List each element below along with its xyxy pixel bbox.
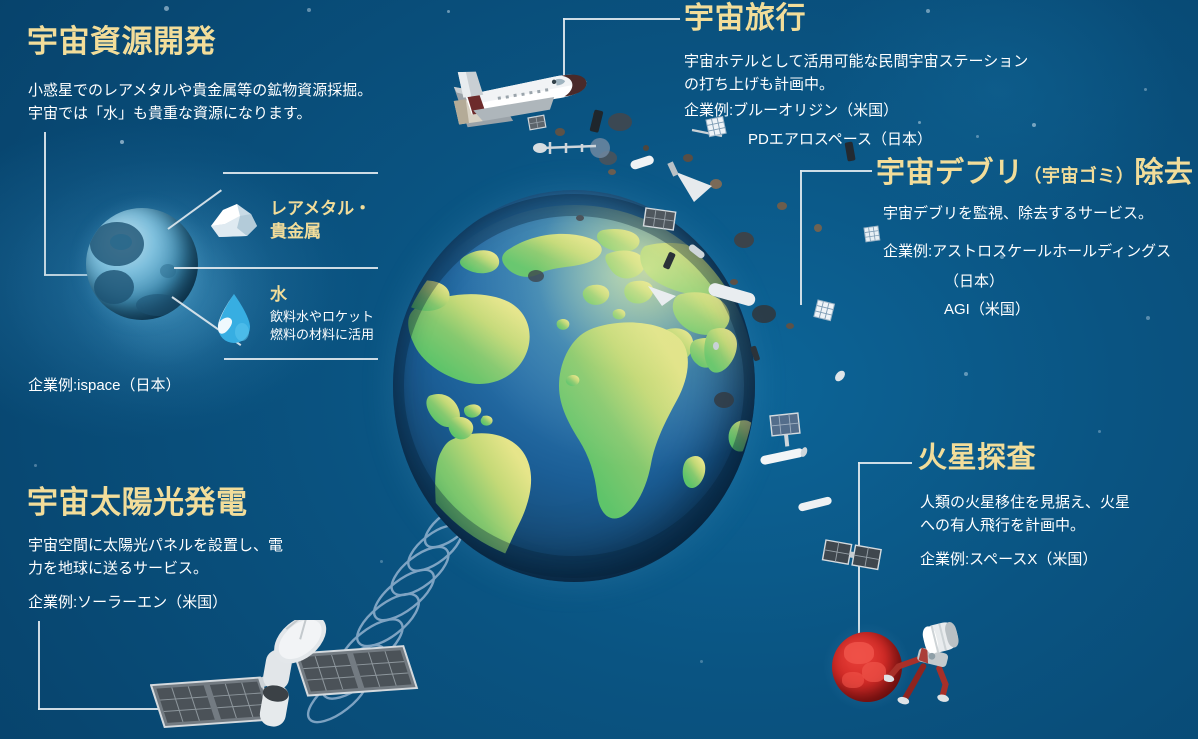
space-debris-company-3: AGI（米国） <box>944 298 1030 321</box>
debris-icon <box>520 100 900 580</box>
star-decor <box>976 135 979 138</box>
ore-rock-icon <box>207 196 261 242</box>
mars-surface-patch <box>842 672 864 688</box>
star-decor <box>926 9 930 13</box>
mars-description: 人類の火星移住を見据え、火星 への有人飛行を計画中。 <box>920 492 1198 537</box>
star-decor <box>1146 316 1150 320</box>
space-debris-heading-paren: （宇宙ゴミ） <box>1024 166 1135 186</box>
star-decor <box>34 464 37 467</box>
space-travel-heading: 宇宙旅行 <box>684 4 806 34</box>
mars-company: 企業例:スペースX（米国） <box>920 548 1097 571</box>
space-solar-description: 宇宙空間に太陽光パネルを設置し、電 力を地球に送るサービス。 <box>28 535 328 580</box>
solar-satellite-icon <box>150 620 420 739</box>
space-debris-heading-tail: 除去 <box>1134 157 1193 189</box>
space-debris-heading: 宇宙デブリ（宇宙ゴミ）除去 <box>876 159 1193 188</box>
space-travel-description: 宇宙ホテルとして活用可能な民間宇宙ステーション の打ち上げも計画中。 <box>684 51 1084 96</box>
star-decor <box>164 6 169 11</box>
water-callout-label: 水 <box>270 284 287 307</box>
asteroid-crater <box>110 234 132 250</box>
space-solar-heading: 宇宙太陽光発電 <box>27 487 248 518</box>
space-travel-connector-horizontal <box>563 18 680 20</box>
star-decor <box>964 372 968 376</box>
mars-surface-patch <box>862 662 886 682</box>
mars-lander-icon <box>884 616 976 712</box>
asteroid-surface-dark <box>94 270 134 304</box>
ore-callout-leader-horizontal <box>223 172 378 174</box>
space-debris-company-2: （日本） <box>944 270 1004 293</box>
space-solar-company: 企業例:ソーラーエン（米国） <box>28 591 227 614</box>
star-decor <box>1098 430 1101 433</box>
star-decor <box>447 10 450 13</box>
star-decor <box>1144 88 1147 91</box>
ore-callout-label: レアメタル・ 貴金属 <box>270 198 371 244</box>
space-resources-heading: 宇宙資源開発 <box>27 26 216 57</box>
mars-surface-patch <box>844 642 874 664</box>
star-decor <box>918 121 921 124</box>
star-decor <box>700 660 703 663</box>
space-debris-company-1: 企業例:アストロスケールホールディングス <box>883 240 1171 263</box>
space-resources-company: 企業例:ispace（日本） <box>28 374 181 397</box>
water-drop-icon <box>214 292 254 346</box>
infographic-canvas: 宇宙資源開発 小惑星でのレアメタルや貴金属等の鉱物資源採掘。 宇宙では「水」も貴… <box>0 0 1198 739</box>
space-solar-connector-vertical <box>38 621 40 710</box>
star-decor <box>307 8 311 12</box>
water-callout-leader-top <box>174 267 378 269</box>
star-decor <box>1032 123 1036 127</box>
mars-heading: 火星探査 <box>918 444 1036 473</box>
space-debris-description: 宇宙デブリを監視、除去するサービス。 <box>883 203 1193 226</box>
